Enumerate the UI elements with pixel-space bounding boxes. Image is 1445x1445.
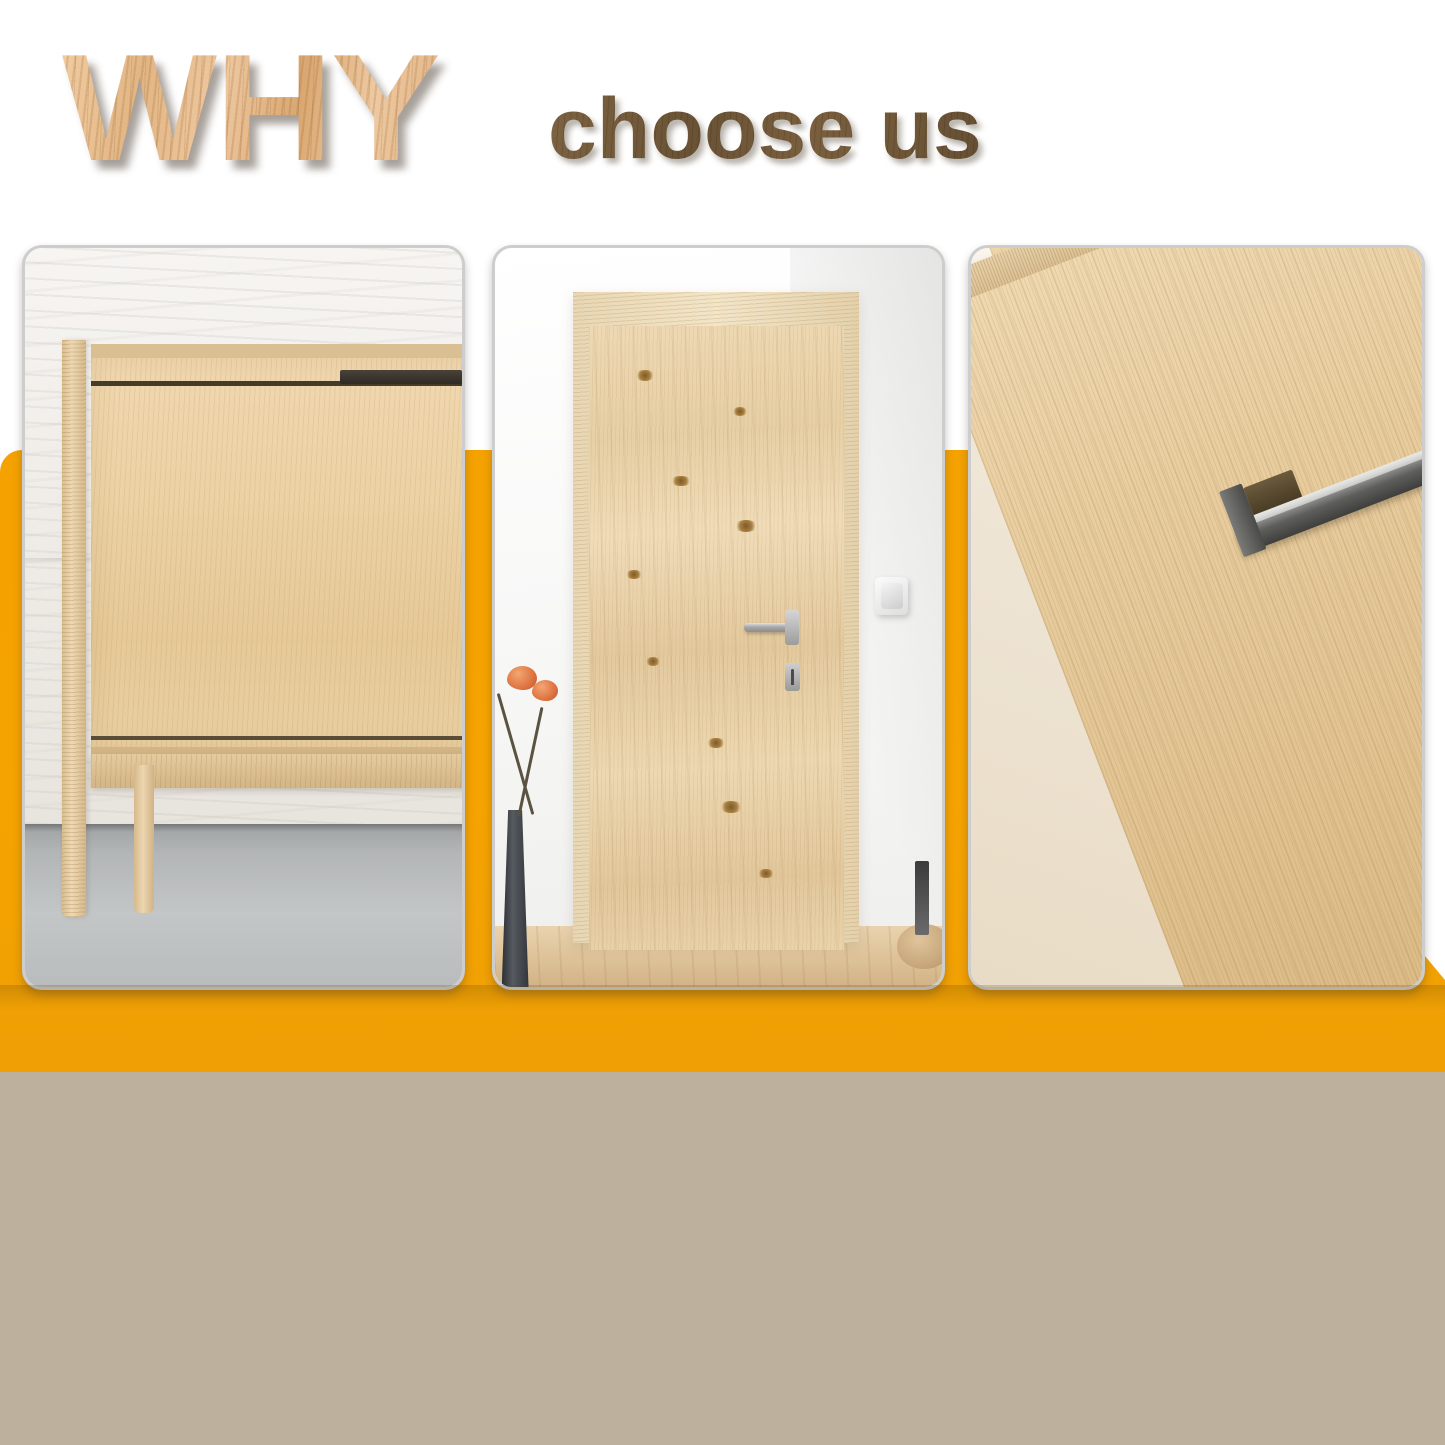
cabinet-leg-front <box>62 340 86 916</box>
drawer-handle-closeup-photo <box>968 245 1425 990</box>
wood-knot <box>719 801 743 813</box>
light-switch[interactable] <box>875 577 909 615</box>
door-handle-base <box>785 610 799 644</box>
oak-cabinet-photo <box>22 245 465 990</box>
wood-knot <box>645 657 661 666</box>
cabinet-handle <box>340 370 462 384</box>
features-band: HIGH QUALITY MATERIAL NATURE OAK WOOD WI… <box>0 1072 1445 1445</box>
header: WHY choose us <box>0 0 1445 230</box>
door-frame <box>573 292 859 942</box>
door-lock[interactable] <box>785 663 800 691</box>
door-leaf <box>589 326 844 950</box>
cabinet-body <box>91 344 462 765</box>
wood-knot <box>670 476 692 486</box>
wood-knot <box>635 370 655 381</box>
wood-knot <box>732 407 748 416</box>
dried-flower-bloom <box>507 666 537 690</box>
wood-knot <box>757 869 775 878</box>
infographic-root: WHY choose us <box>0 0 1445 1445</box>
floor-surface <box>25 824 462 987</box>
wood-knot <box>625 570 643 579</box>
page-title-secondary: choose us <box>548 86 982 172</box>
dark-object-edge <box>915 861 928 935</box>
wood-knot <box>706 738 726 748</box>
features-grid: HIGH QUALITY MATERIAL NATURE OAK WOOD WI… <box>0 1072 1445 1445</box>
oak-door-photo <box>492 245 945 990</box>
cabinet-leg-second <box>134 765 154 913</box>
wood-knot <box>734 520 758 532</box>
cabinet-bottom-gap <box>91 736 462 740</box>
dried-flower-bloom <box>532 680 558 701</box>
page-title-primary: WHY <box>62 32 439 184</box>
